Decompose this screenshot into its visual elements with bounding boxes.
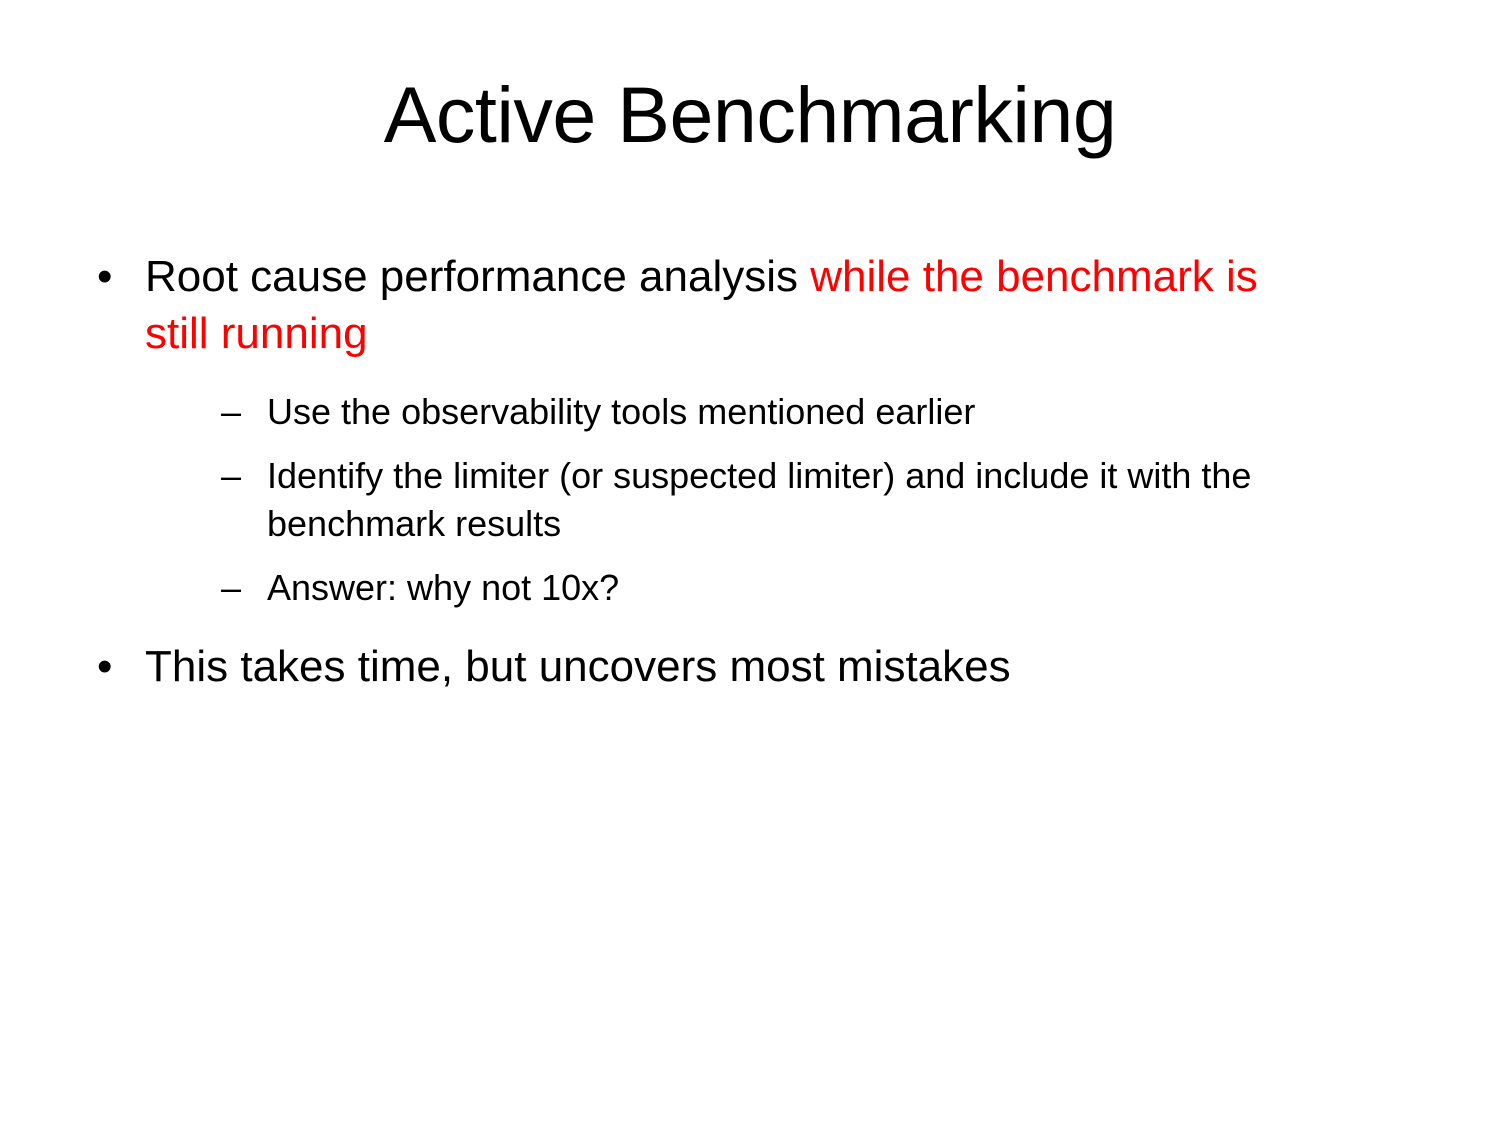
spacer — [145, 362, 1295, 382]
sub-bullet-label: Answer: why not 10x? — [267, 567, 619, 608]
bullet-text-black: Root cause performance analysis — [145, 252, 810, 301]
page-title: Active Benchmarking — [0, 72, 1500, 157]
list-item-identify-limiter: –Identify the limiter (or suspected limi… — [145, 452, 1295, 548]
list-item-takes-time: •This takes time, but uncovers most mist… — [90, 638, 1295, 695]
list-item-answer-10x: –Answer: why not 10x? — [145, 564, 1295, 612]
bullet-list-level2: –Use the observability tools mentioned e… — [145, 388, 1295, 612]
sub-bullet-label: Identify the limiter (or suspected limit… — [267, 455, 1251, 544]
dash-bullet-marker-icon: – — [221, 452, 241, 500]
list-item-observability-tools: –Use the observability tools mentioned e… — [145, 388, 1295, 436]
dash-bullet-marker-icon: – — [221, 564, 241, 612]
list-item-root-cause: •Root cause performance analysis while t… — [90, 248, 1295, 638]
dash-bullet-marker-icon: – — [221, 388, 241, 436]
spacer — [145, 612, 1295, 638]
bullet-marker-icon: • — [97, 638, 112, 695]
bullet-text: This takes time, but uncovers most mista… — [145, 642, 1011, 691]
bullet-marker-icon: • — [97, 248, 112, 305]
sub-bullet-label: Use the observability tools mentioned ea… — [267, 391, 975, 432]
slide: Active Benchmarking •Root cause performa… — [0, 0, 1500, 1125]
slide-body: •Root cause performance analysis while t… — [90, 248, 1410, 695]
bullet-list-level1: •Root cause performance analysis while t… — [90, 248, 1410, 695]
